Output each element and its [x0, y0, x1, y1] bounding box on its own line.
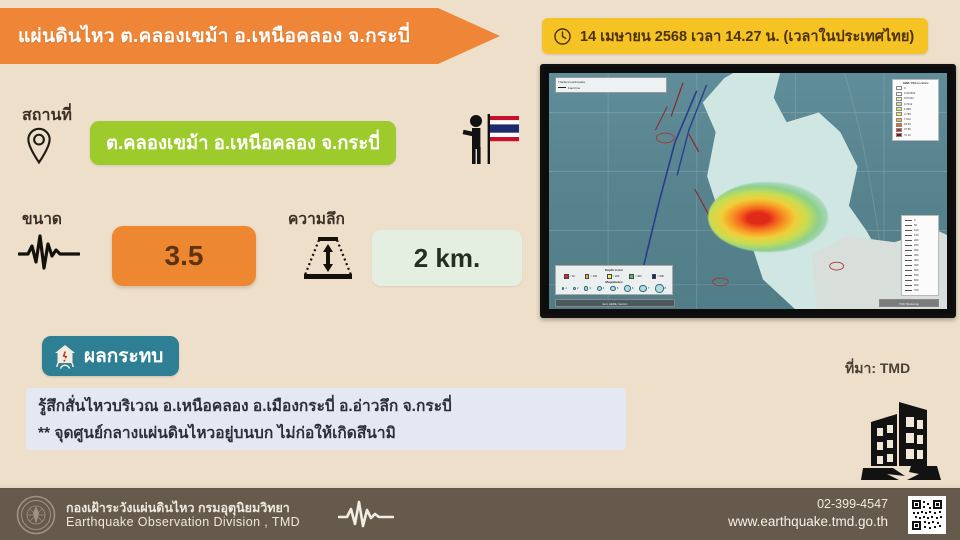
date-time-badge: 14 เมษายน 2568 เวลา 14.27 น. (เวลาในประเ…	[542, 18, 928, 54]
impact-badge: ผลกระทบ	[42, 336, 179, 376]
map-magnitude-chip: 6	[624, 285, 633, 292]
map-contour-legend: 0501001502002503003504004505005506006507…	[901, 215, 939, 296]
map-contour-swatch	[905, 240, 912, 241]
map-contour-value: 500	[914, 269, 918, 272]
map-pga-swatch	[896, 97, 902, 101]
impact-line-2: ** จุดศูนย์กลางแผ่นดินไหวอยู่บนบก ไม่ก่อ…	[38, 420, 614, 445]
map-magnitude-circle	[610, 286, 616, 292]
map-contour-swatch	[905, 220, 912, 221]
map-pin-icon	[22, 126, 56, 166]
map-layer-sub: Fault line	[568, 86, 580, 90]
map-magnitude-chip: 4	[597, 286, 604, 291]
map-depth-chip: < 400	[629, 274, 641, 279]
map-contour-swatch	[905, 275, 912, 276]
map-pga-swatch	[896, 102, 902, 106]
map-magnitude-chip: 1	[562, 287, 567, 290]
map-shake-intensity-blob	[708, 182, 827, 253]
map-contour-value: 350	[914, 254, 918, 257]
qr-code-icon[interactable]	[908, 496, 946, 534]
map-depth-label: < 400	[635, 275, 642, 278]
map-magnitude-chip: 5	[610, 286, 618, 292]
map-magnitude-chip: 8	[655, 284, 666, 292]
map-pga-legend: GMM / PGA in cm/s/s 00.0019320.074120.74…	[892, 79, 939, 141]
map-pga-swatch	[896, 133, 902, 137]
map-pga-value: 1.899	[904, 108, 911, 111]
seismic-wave-icon	[338, 500, 394, 528]
map-magnitude-chip: 3	[584, 286, 591, 290]
map-attribution-right: TMD Shakemap	[879, 299, 939, 307]
map-depth-swatch	[607, 274, 612, 279]
map-contour-swatch	[905, 255, 912, 256]
map-depth-chip: < 900	[652, 274, 664, 279]
damaged-buildings-icon	[853, 388, 945, 480]
map-contour-value: 550	[914, 274, 918, 277]
map-attribution-left: Esri, HERE, Garmin	[555, 299, 675, 307]
map-contour-value: 100	[914, 229, 918, 232]
map-depth-label: < 33	[570, 275, 575, 278]
map-magnitude-label: 5	[617, 287, 618, 290]
map-depth-label: < 900	[657, 275, 664, 278]
map-contour-swatch	[905, 225, 912, 226]
map-contour-swatch	[905, 245, 912, 246]
map-contour-value: 300	[914, 249, 918, 252]
map-magnitude-circle	[639, 285, 647, 293]
map-magnitude-circle	[573, 287, 576, 290]
map-contour-swatch	[905, 260, 912, 261]
map-pga-value: 0.001932	[904, 92, 915, 95]
map-magnitude-chip: 7	[639, 285, 649, 293]
footer-phone[interactable]: 02-399-4547	[658, 497, 888, 511]
map-depth-chip: < 33	[564, 274, 575, 279]
thailand-flag-icon	[461, 110, 523, 168]
map-contour-legend-row: 700	[905, 288, 935, 293]
map-pga-value: 0	[904, 87, 906, 90]
map-magnitude-label: 3	[589, 287, 590, 290]
map-pga-value: 37.86	[904, 128, 911, 131]
map-pga-value: 7.612	[904, 118, 911, 121]
map-depth-magnitude-legend: Depth in km < 33< 100< 200< 400< 900 Mag…	[555, 265, 673, 295]
map-contour-value: 0	[914, 219, 916, 222]
footer-website[interactable]: www.earthquake.tmd.go.th	[658, 514, 888, 529]
map-layer-title: Thailand earthquake	[558, 80, 664, 84]
map-pga-legend-row: 74.12	[896, 133, 935, 138]
map-contour-value: 700	[914, 289, 918, 292]
map-magnitude-label: 8	[665, 287, 666, 290]
location-value: ต.คลองเขม้า อ.เหนือคลอง จ.กระบี่	[106, 129, 380, 158]
map-contour-swatch	[905, 270, 912, 271]
map-contour-swatch	[905, 290, 912, 291]
map-magnitude-circle	[655, 284, 663, 292]
map-pga-value: 3.766	[904, 113, 911, 116]
map-contour-value: 250	[914, 244, 918, 247]
map-depth-label: < 200	[613, 275, 620, 278]
map-contour-value: 150	[914, 234, 918, 237]
map-contour-swatch	[905, 230, 912, 231]
depth-label: ความลึก	[288, 206, 345, 231]
tmd-seal-icon	[16, 495, 56, 535]
infographic-canvas: แผ่นดินไหว ต.คลองเขม้า อ.เหนือคลอง จ.กระ…	[0, 0, 960, 540]
impact-badge-label: ผลกระทบ	[84, 341, 163, 371]
page-title: แผ่นดินไหว ต.คลองเขม้า อ.เหนือคลอง จ.กระ…	[0, 21, 410, 51]
clock-icon	[553, 27, 572, 46]
map-contour-value: 650	[914, 284, 918, 287]
map-contour-swatch	[905, 235, 912, 236]
impact-text-box: รู้สึกสั่นไหวบริเวณ อ.เหนือคลอง อ.เมืองก…	[26, 388, 626, 450]
depth-arrow-icon	[300, 234, 356, 282]
shaking-house-icon	[53, 343, 77, 370]
map-contour-value: 400	[914, 259, 918, 262]
map-depth-swatch	[629, 274, 634, 279]
map-contour-value: 450	[914, 264, 918, 267]
map-depth-chip: < 200	[607, 274, 619, 279]
map-magnitude-label: 2	[577, 287, 578, 290]
map-pga-swatch	[896, 86, 902, 90]
map-pga-swatch	[896, 118, 902, 122]
map-contour-swatch	[905, 285, 912, 286]
shakemap-image: Thailand earthquake Fault line GMM / PGA…	[549, 73, 947, 309]
map-pga-value: 0.07412	[904, 97, 914, 100]
map-depth-chip: < 100	[585, 274, 597, 279]
map-magnitude-circle	[584, 286, 588, 290]
map-pga-value: 18.53	[904, 123, 911, 126]
map-depth-swatch	[564, 274, 569, 279]
map-magnitude-circle	[624, 285, 631, 292]
map-magnitude-chip: 2	[573, 287, 579, 290]
source-label: ที่มา: TMD	[845, 358, 910, 380]
map-pga-swatch	[896, 123, 902, 127]
location-label: สถานที่	[22, 103, 72, 128]
seismograph-icon	[18, 232, 80, 272]
date-time-text: 14 เมษายน 2568 เวลา 14.27 น. (เวลาในประเ…	[580, 25, 914, 48]
map-layer-control[interactable]: Thailand earthquake Fault line	[555, 77, 667, 93]
map-pga-swatch	[896, 107, 902, 111]
map-contour-swatch	[905, 265, 912, 266]
map-pga-value: 0.7412	[904, 103, 912, 106]
map-contour-swatch	[905, 280, 912, 281]
map-pga-swatch	[896, 128, 902, 132]
location-pill: ต.คลองเขม้า อ.เหนือคลอง จ.กระบี่	[90, 121, 396, 165]
map-depth-swatch	[652, 274, 657, 279]
map-magnitude-label: 6	[632, 287, 633, 290]
map-contour-value: 600	[914, 279, 918, 282]
magnitude-value-box: 3.5	[112, 226, 256, 286]
map-pga-value: 74.12	[904, 134, 911, 137]
map-contour-value: 200	[914, 239, 918, 242]
impact-line-1: รู้สึกสั่นไหวบริเวณ อ.เหนือคลอง อ.เมืองก…	[38, 393, 614, 418]
footer-bar: กองเฝ้าระวังแผ่นดินไหว กรมอุตุนิยมวิทยา …	[0, 488, 960, 540]
map-magnitude-circle	[597, 286, 602, 291]
map-depth-label: < 100	[590, 275, 597, 278]
header-banner: แผ่นดินไหว ต.คลองเขม้า อ.เหนือคลอง จ.กระ…	[0, 8, 500, 64]
map-fault-swatch	[558, 87, 566, 89]
shakemap-panel[interactable]: Thailand earthquake Fault line GMM / PGA…	[540, 64, 956, 318]
magnitude-value: 3.5	[165, 240, 204, 272]
map-magnitude-circle	[562, 287, 564, 289]
map-magnitude-label: 1	[565, 287, 566, 290]
map-contour-value: 50	[914, 224, 917, 227]
magnitude-label: ขนาด	[22, 206, 62, 231]
map-magnitude-label: 4	[603, 287, 604, 290]
map-depth-swatch	[585, 274, 590, 279]
map-contour-swatch	[905, 250, 912, 251]
map-pga-swatch	[896, 92, 902, 96]
map-magnitude-label: 7	[648, 287, 649, 290]
depth-value: 2 km.	[414, 243, 481, 274]
depth-value-box: 2 km.	[372, 230, 522, 286]
map-pga-swatch	[896, 112, 902, 116]
footer-org-en: Earthquake Observation Division , TMD	[66, 515, 300, 529]
